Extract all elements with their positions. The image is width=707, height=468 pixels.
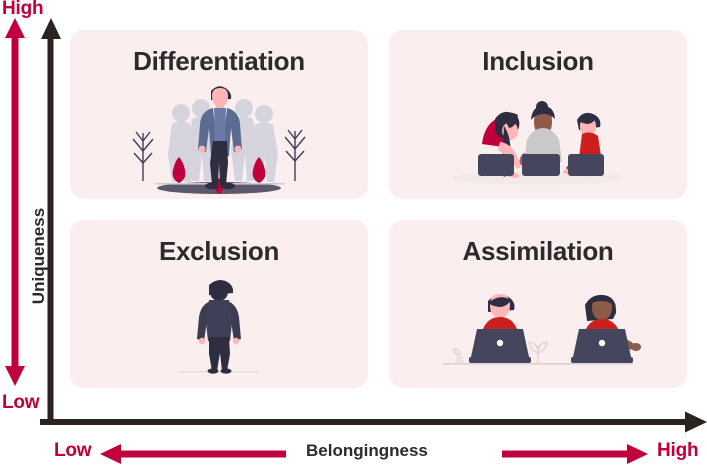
illustration-person-alone	[70, 267, 368, 388]
diagram-canvas: High Low Low High Belongingness Uniquene…	[0, 0, 707, 468]
x-axis-high-arrow-icon	[502, 443, 648, 465]
x-axis-title: Belongingness	[306, 441, 428, 461]
y-axis-high-label: High	[2, 0, 43, 20]
y-axis-low-label: Low	[2, 392, 39, 414]
quadrant-differentiation[interactable]: Differentiation	[70, 30, 368, 199]
quadrant-exclusion[interactable]: Exclusion	[70, 220, 368, 388]
quadrant-title-exclusion: Exclusion	[159, 237, 279, 267]
illustration-two-people-at-laptops	[389, 267, 687, 388]
x-axis-line	[40, 410, 707, 434]
quadrant-grid: Differentiation	[70, 30, 687, 388]
quadrant-title-assimilation: Assimilation	[463, 237, 614, 267]
y-axis-high-arrow-icon	[4, 18, 26, 386]
x-axis-high-label: High	[657, 440, 698, 462]
quadrant-title-inclusion: Inclusion	[482, 47, 593, 77]
illustration-person-apart-from-crowd	[70, 77, 368, 199]
x-axis-low-arrow-icon	[100, 443, 286, 465]
x-axis-low-label: Low	[54, 440, 91, 462]
quadrant-title-differentiation: Differentiation	[133, 47, 305, 77]
illustration-people-sitting-together	[389, 77, 687, 199]
y-axis-title: Uniqueness	[29, 191, 49, 321]
quadrant-inclusion[interactable]: Inclusion	[389, 30, 687, 199]
quadrant-assimilation[interactable]: Assimilation	[389, 220, 687, 388]
